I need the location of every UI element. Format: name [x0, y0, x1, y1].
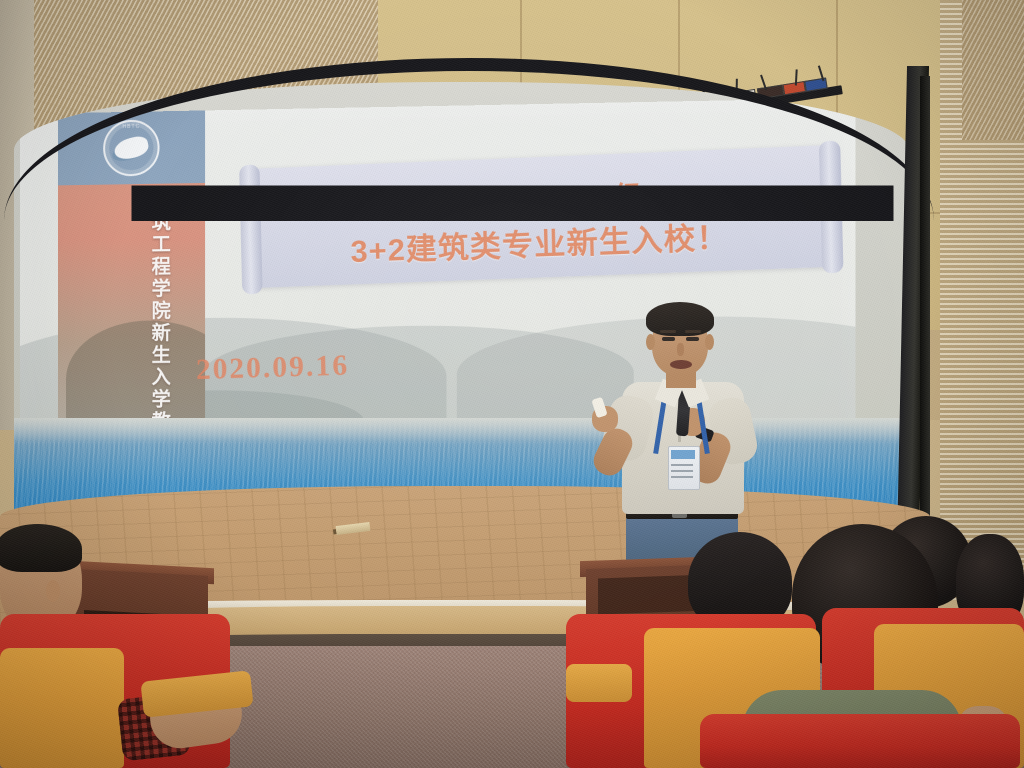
seat-back-cushion — [700, 714, 1020, 768]
screen-frame-arc — [4, 58, 934, 221]
presenter-eye-left — [662, 337, 675, 341]
id-badge-line — [671, 470, 693, 472]
presenter-hair — [646, 302, 714, 336]
presenter-eyebrow-left — [660, 330, 676, 333]
sea-horizon-haze — [14, 418, 909, 444]
slide-date: 2020.09.16 — [196, 349, 350, 387]
presenter-ear-right — [705, 334, 714, 350]
seat-armrest — [566, 664, 632, 702]
curved-projection-screen: HBTC 建筑工程学院新生入学教育 热烈祝贺2020级 3+2建筑类专业新生入校… — [4, 58, 944, 558]
screen-frame-right-shadow — [920, 76, 930, 546]
presenter-ear-left — [646, 334, 655, 350]
presenter-nose — [677, 343, 684, 356]
panel-mountain-shape — [66, 320, 205, 432]
presenter-mouth — [670, 360, 692, 369]
seat-back-panel — [0, 648, 124, 768]
wall-slat-panel-corner — [962, 0, 1024, 140]
slide-vertical-title: 建筑工程学院新生入学教育 — [148, 190, 168, 456]
id-badge-line — [671, 464, 693, 466]
photo-scene: HBTC 建筑工程学院新生入学教育 热烈祝贺2020级 3+2建筑类专业新生入校… — [0, 0, 1024, 768]
id-badge-line — [671, 476, 693, 478]
presenter-eye-right — [686, 337, 699, 341]
presenter-eyebrow-right — [685, 330, 701, 333]
audience-ear-front-left — [46, 580, 60, 602]
audience-hair-front-left — [0, 524, 82, 572]
id-badge-photo — [671, 450, 695, 459]
